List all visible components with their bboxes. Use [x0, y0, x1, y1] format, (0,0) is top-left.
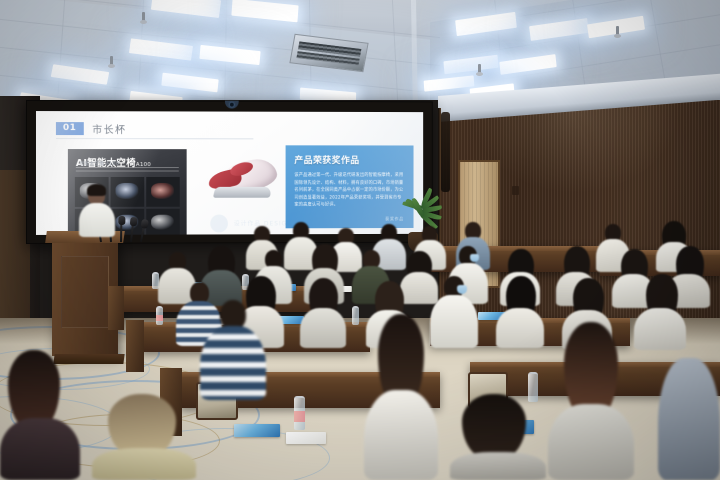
person-hair [8, 350, 60, 428]
slide-header-rule [56, 138, 253, 139]
chair-base [213, 187, 272, 198]
product-spec-line [76, 167, 179, 174]
person-hair [462, 394, 526, 458]
conference-room-photo: 01 市长杯 AI智能太空椅A100 [0, 0, 720, 480]
microphone [120, 222, 122, 242]
person-hair [108, 394, 176, 456]
presenter-body [79, 203, 115, 237]
audience-member-foreground [548, 326, 634, 480]
face-mask [470, 254, 479, 262]
info-panel: 产品荣获奖作品 该产品通过第一代、升级迭代研发出的智能按摩椅，采用国际领先设计、… [286, 145, 414, 228]
water-bottle [156, 306, 163, 325]
audience-member-foreground [658, 358, 720, 480]
presenter [76, 186, 118, 246]
person-body [200, 326, 266, 400]
presenter-hair [87, 184, 106, 196]
audience-member [634, 276, 686, 350]
person-body [364, 390, 438, 480]
desk-side-panel [108, 286, 124, 330]
person-body [496, 308, 544, 348]
sprinkler-head [616, 26, 619, 35]
audience-member-foreground [92, 398, 196, 480]
product-thumbnail [146, 208, 180, 235]
sprinkler-head [142, 12, 145, 21]
water-bottle [528, 372, 538, 402]
person-body [658, 358, 720, 480]
product-render-caption: 智能太空椅 A100 [80, 161, 119, 167]
person-body [634, 308, 686, 350]
audience-member-foreground [0, 356, 80, 480]
face-mask [457, 285, 467, 294]
person-body [548, 404, 634, 480]
person-body [450, 452, 546, 480]
podium-front-panel [61, 256, 109, 328]
audience-member-foreground [200, 300, 266, 400]
sprinkler-head [110, 56, 113, 65]
person-body [0, 418, 80, 480]
info-panel-heading: 产品荣获奖作品 [294, 153, 404, 166]
paper-sheet [286, 432, 326, 444]
person-body [300, 308, 346, 348]
section-number-badge: 01 [56, 122, 83, 135]
product-render-massage-chair [204, 153, 280, 209]
audience-member-foreground [364, 318, 438, 480]
audience-member-foreground [450, 400, 546, 480]
blue-folder [234, 424, 280, 437]
wall-socket [512, 186, 519, 195]
person-body [92, 448, 196, 480]
section-title: 市长杯 [92, 121, 126, 136]
audience-member [496, 278, 544, 348]
product-thumbnail [146, 177, 180, 206]
camera-icon [224, 101, 238, 109]
desk-side-panel [126, 320, 144, 372]
audience-member [300, 280, 346, 348]
sprinkler-head [478, 64, 481, 73]
wall-decoration [441, 112, 450, 192]
water-bottle [294, 396, 305, 430]
water-bottle [352, 306, 359, 325]
watermark-logo-icon [210, 215, 228, 233]
slide-header: 01 市长杯 [56, 121, 127, 136]
info-panel-body: 该产品通过第一代、升级迭代研发出的智能按摩椅，采用国际领先设计、结构、材料，拥有… [294, 172, 404, 209]
